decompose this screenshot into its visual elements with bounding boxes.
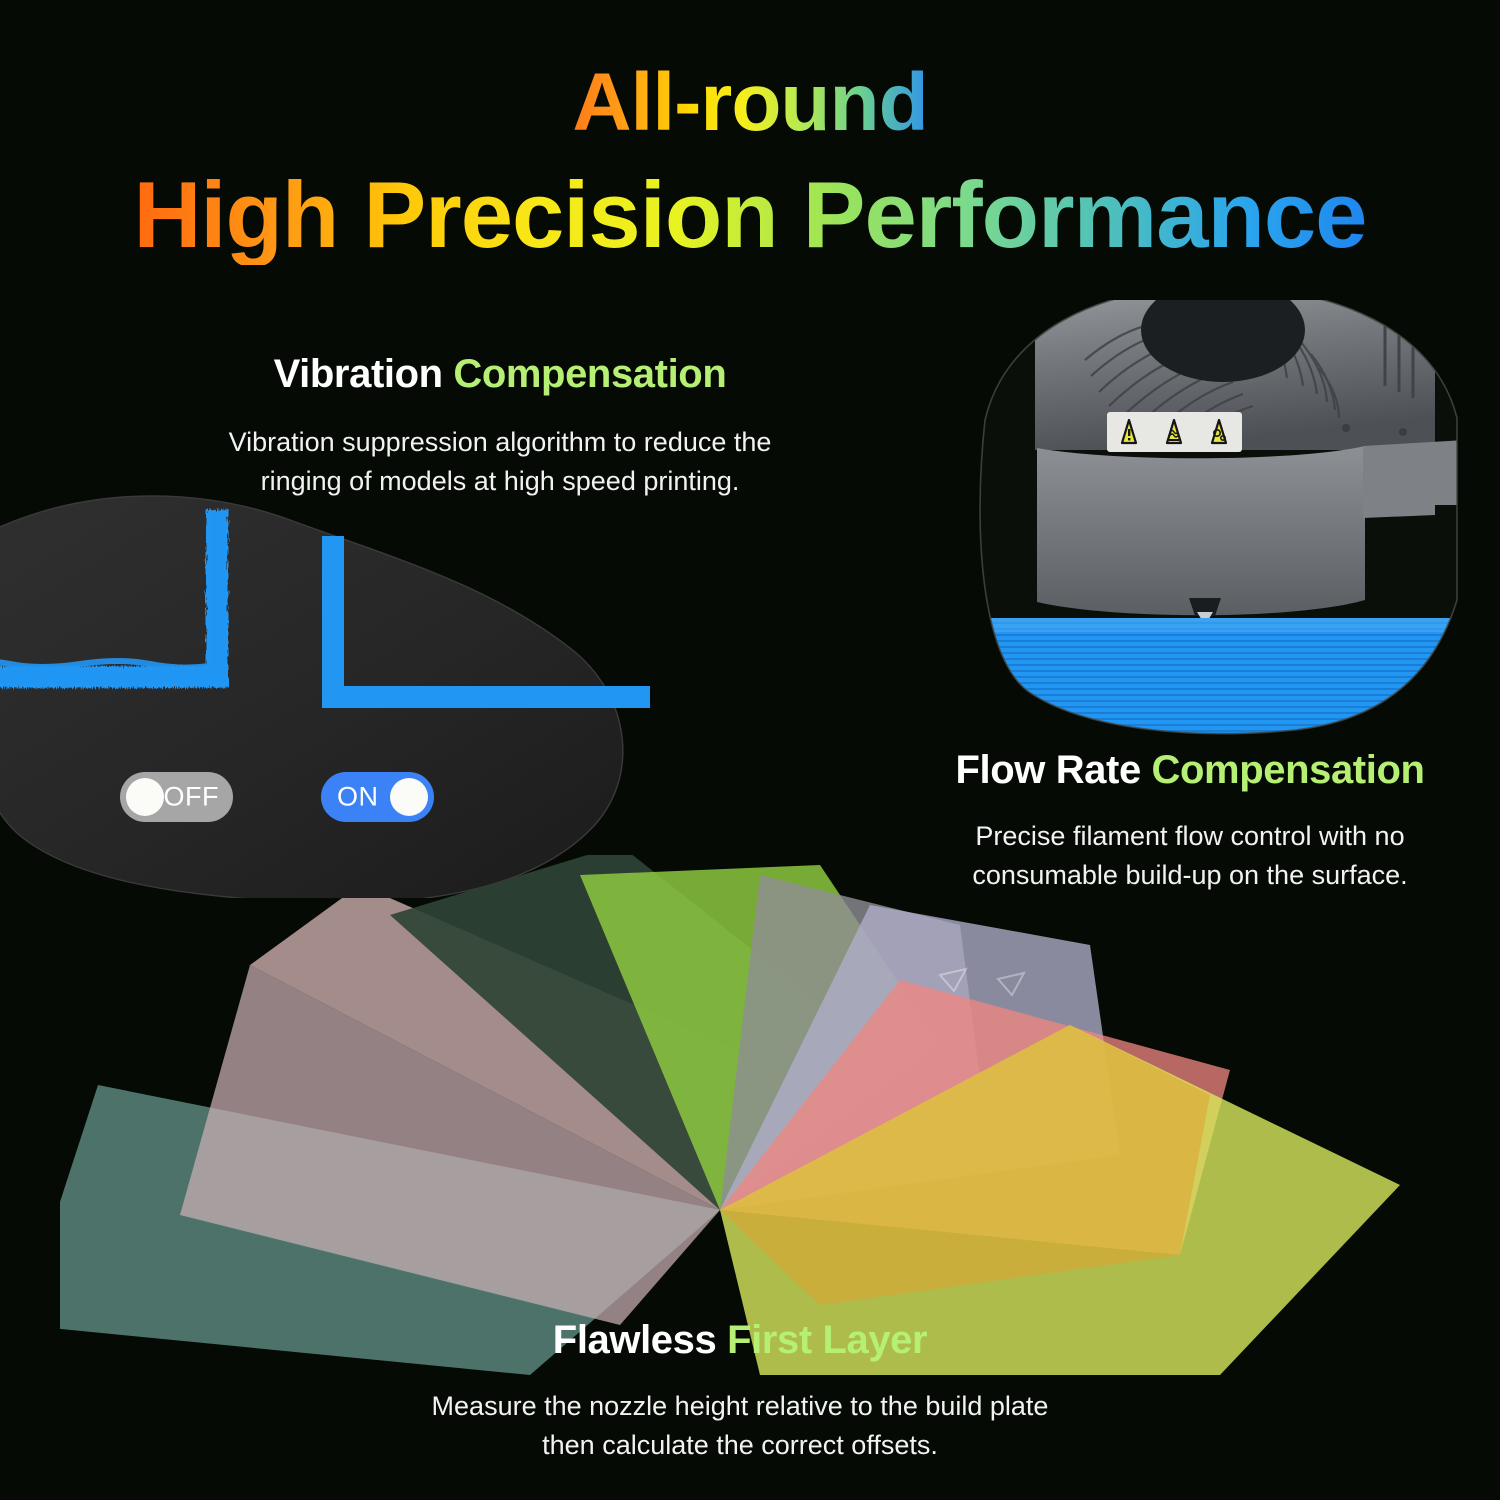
- vibration-compensation-text-block: Vibration Compensation Vibration suppres…: [110, 352, 890, 501]
- vibration-compensation-heading: Vibration Compensation: [110, 352, 890, 397]
- filament-layer-sheen: [965, 618, 1465, 632]
- toggle-knob-off: [126, 778, 164, 816]
- printhead-clipped-group: [965, 300, 1465, 740]
- heading-white-part: Flawless: [553, 1318, 727, 1362]
- infographic-canvas: All-round High Precision Performance: [0, 0, 1500, 1500]
- desc-line-2: then calculate the correct offsets.: [380, 1426, 1100, 1465]
- desc-line-2: ringing of models at high speed printing…: [110, 462, 890, 501]
- vibration-toggle-group: OFF ON: [120, 772, 480, 828]
- build-plate-sheets-fan: [60, 855, 1460, 1375]
- page-title: All-round High Precision Performance: [0, 60, 1500, 265]
- screw-icon-2: [1399, 428, 1407, 436]
- printhead-body: [1037, 446, 1365, 615]
- flow-rate-description: Precise filament flow control with no co…: [930, 817, 1450, 895]
- heading-green-part: Compensation: [453, 352, 726, 396]
- filament-layer: [965, 618, 1465, 740]
- title-line-1: All-round: [572, 60, 927, 147]
- heading-green-part: First Layer: [727, 1318, 927, 1362]
- vibration-compensation-description: Vibration suppression algorithm to reduc…: [110, 423, 890, 501]
- sheet-stack: [60, 855, 1400, 1375]
- toggle-knob-on: [390, 778, 428, 816]
- heading-white-part: Flow Rate: [955, 748, 1151, 792]
- first-layer-text-block: Flawless First Layer Measure the nozzle …: [380, 1318, 1100, 1465]
- desc-line-2: consumable build-up on the surface.: [930, 856, 1450, 895]
- desc-line-1: Vibration suppression algorithm to reduc…: [110, 423, 890, 462]
- flow-rate-text-block: Flow Rate Compensation Precise filament …: [930, 748, 1450, 895]
- toggle-off-label: OFF: [164, 782, 220, 813]
- first-layer-heading: Flawless First Layer: [380, 1318, 1100, 1363]
- heading-white-part: Vibration: [274, 352, 454, 396]
- printhead-illustration: [965, 300, 1465, 740]
- vibration-toggle-off[interactable]: OFF: [120, 772, 233, 822]
- vibration-toggle-on[interactable]: ON: [321, 772, 434, 822]
- screw-icon-1: [1342, 424, 1350, 432]
- desc-line-1: Precise filament flow control with no: [930, 817, 1450, 856]
- vibration-compensation-illustration: [0, 478, 650, 898]
- heading-green-part: Compensation: [1152, 748, 1425, 792]
- flow-rate-heading: Flow Rate Compensation: [930, 748, 1450, 793]
- first-layer-description: Measure the nozzle height relative to th…: [380, 1387, 1100, 1465]
- desc-line-1: Measure the nozzle height relative to th…: [380, 1387, 1100, 1426]
- toggle-on-label: ON: [337, 782, 379, 813]
- title-line-2: High Precision Performance: [134, 165, 1367, 265]
